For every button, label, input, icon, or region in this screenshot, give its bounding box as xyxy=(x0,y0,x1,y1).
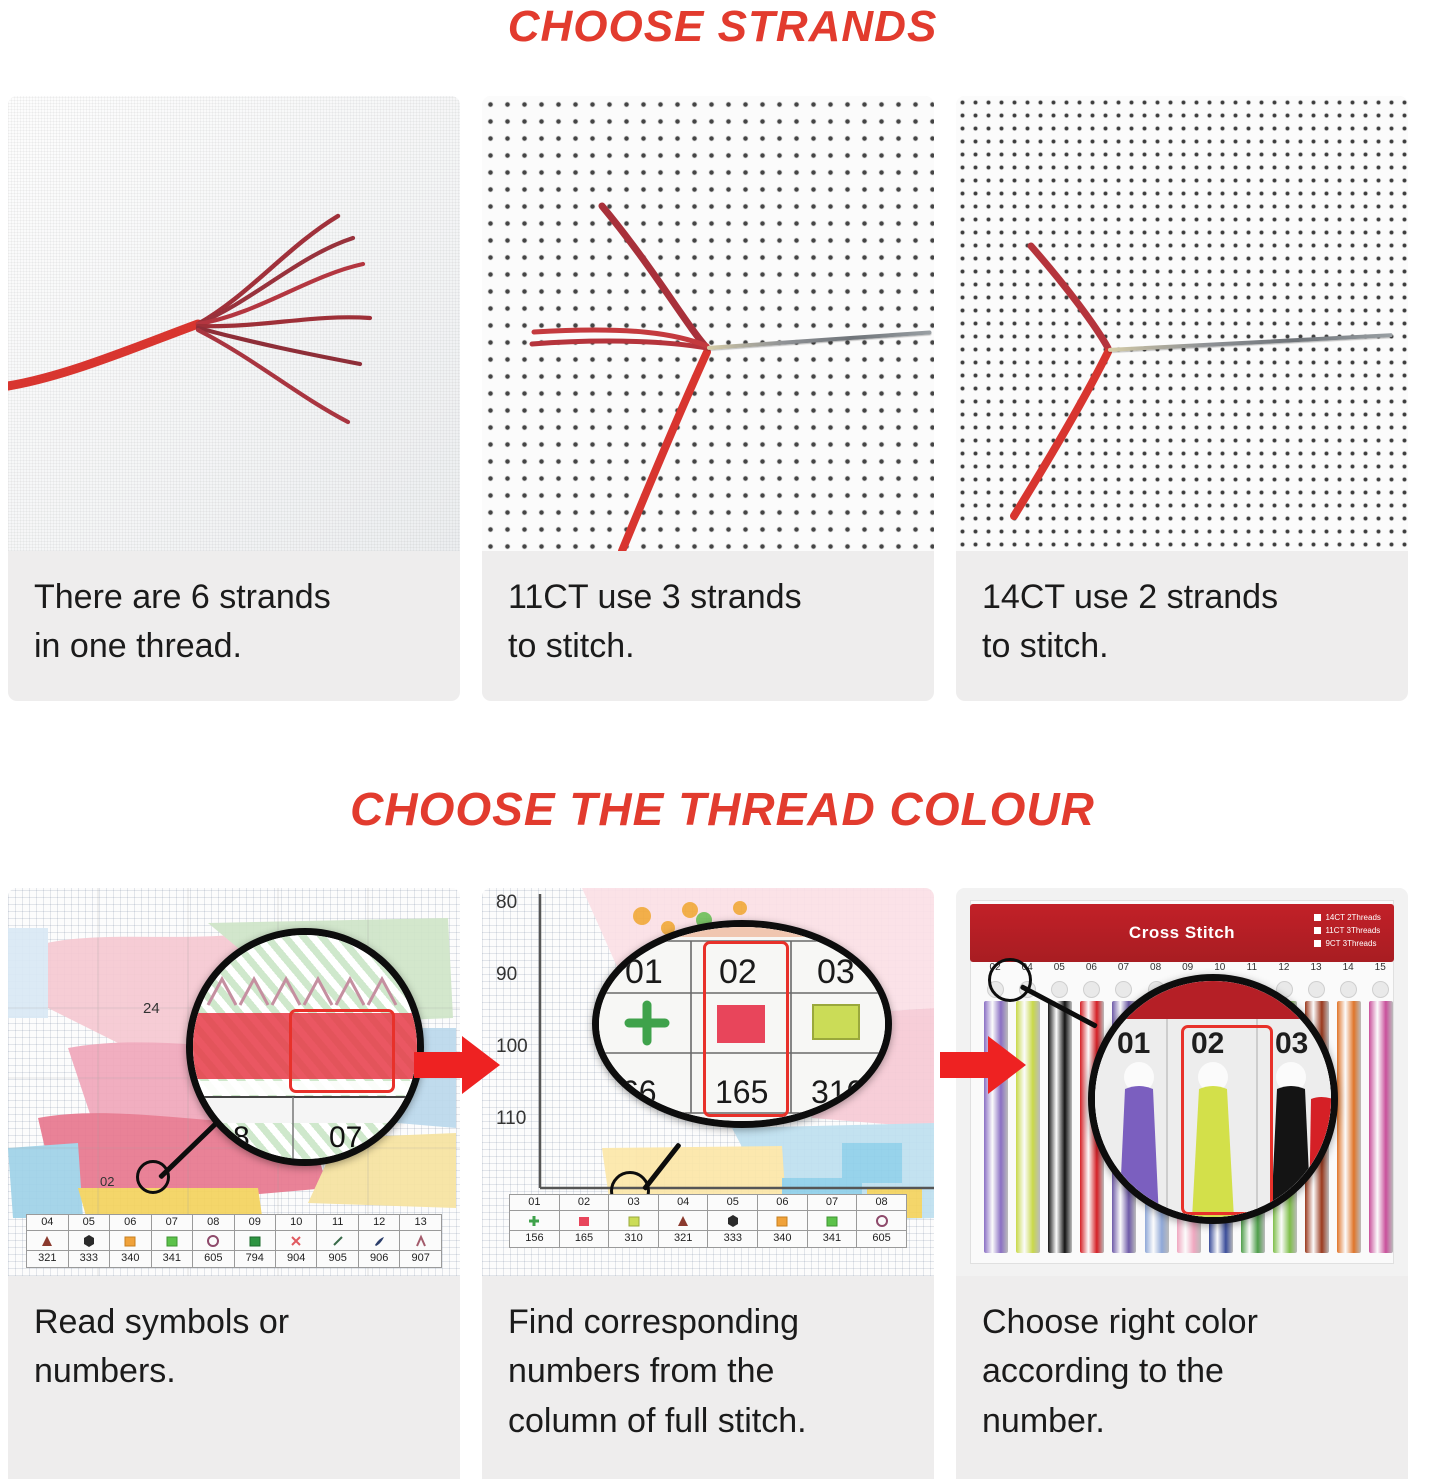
legend-column[interactable]: 01156 xyxy=(510,1195,560,1248)
magnifier-focus-dot xyxy=(988,958,1032,1002)
infographic-page: CHOOSE STRANDS xyxy=(0,0,1445,1479)
legend-symbol-orange-square xyxy=(110,1231,150,1251)
checkbox-icon[interactable] xyxy=(1314,927,1321,934)
legend-column[interactable]: 04321 xyxy=(27,1215,68,1268)
photo-needle-two-strands-14ct xyxy=(956,96,1408,551)
section-heading-choose-strands: CHOOSE STRANDS xyxy=(0,2,1445,52)
thread-skein[interactable] xyxy=(1337,1001,1361,1253)
legend-index: 04 xyxy=(659,1195,708,1212)
legend-dmc-code: 165 xyxy=(560,1231,609,1247)
arrow-pattern-to-chart xyxy=(414,1034,500,1096)
photo-needle-three-strands-11ct xyxy=(482,96,934,551)
legend-dmc-code: 906 xyxy=(359,1251,399,1267)
card-six-strands: There are 6 strands in one thread. xyxy=(8,96,460,701)
svg-text:01: 01 xyxy=(1117,1027,1150,1060)
legend-index: 06 xyxy=(758,1195,807,1212)
legend-dmc-code: 340 xyxy=(758,1231,807,1247)
thread-card-options: 14CT 2Threads11CT 3Threads9CT 3Threads xyxy=(1314,913,1380,952)
legend-symbol-yellow-green-square xyxy=(609,1211,658,1231)
section-heading-choose-thread-colour: CHOOSE THE THREAD COLOUR xyxy=(0,782,1445,836)
svg-text:8: 8 xyxy=(233,1121,250,1154)
legend-column[interactable]: 12906 xyxy=(359,1215,400,1268)
magnifier-lens-chart: 01 02 03 66 165 310 xyxy=(592,920,892,1128)
peg-number: 08 xyxy=(1144,962,1168,973)
svg-text:03: 03 xyxy=(1275,1027,1308,1060)
legend-column[interactable]: 13907 xyxy=(400,1215,441,1268)
legend-index: 07 xyxy=(152,1215,192,1232)
card-11ct: 11CT use 3 strands to stitch. xyxy=(482,96,934,701)
legend-symbol-open-circle xyxy=(857,1211,906,1231)
photo-red-thread-six-strands xyxy=(8,96,460,551)
highlight-box xyxy=(1181,1025,1273,1215)
legend-index: 06 xyxy=(110,1215,150,1232)
legend-column[interactable]: 05333 xyxy=(69,1215,110,1268)
photo-pattern-chart: 8090100110 xyxy=(482,888,934,1276)
caption-line-3: number. xyxy=(982,1397,1382,1446)
legend-index: 03 xyxy=(609,1195,658,1212)
legend-index: 11 xyxy=(317,1215,357,1232)
caption-line-1: Read symbols or xyxy=(34,1298,434,1347)
thread-card-option-label: 9CT 3Threads xyxy=(1325,939,1376,948)
legend-column[interactable]: 10904 xyxy=(276,1215,317,1268)
card-choose-color: Cross Stitch 14CT 2Threads11CT 3Threads9… xyxy=(956,888,1408,1479)
peg-number: 06 xyxy=(1079,962,1103,973)
peg-number: 15 xyxy=(1368,962,1392,973)
caption-read-symbols: Read symbols or numbers. xyxy=(8,1276,460,1479)
axis-tick-label: 110 xyxy=(496,1108,526,1130)
peg-number: 09 xyxy=(1176,962,1200,973)
legend-column[interactable]: 05333 xyxy=(708,1195,758,1248)
legend-dmc-code: 340 xyxy=(110,1251,150,1267)
six-strands-illustration xyxy=(8,96,460,551)
legend-dmc-code: 321 xyxy=(27,1251,67,1267)
legend-symbol-triangle-flag xyxy=(27,1231,67,1251)
caption-line-1: 11CT use 3 strands xyxy=(508,573,908,622)
magnifier-focus-dot xyxy=(136,1160,170,1194)
legend-symbol-hexagon-dot xyxy=(708,1211,757,1231)
legend-column[interactable]: 11905 xyxy=(317,1215,358,1268)
legend-symbol-diagonal-slash xyxy=(317,1231,357,1251)
legend-dmc-code: 156 xyxy=(510,1231,559,1247)
legend-dmc-code: 341 xyxy=(808,1231,857,1247)
two-strands-needle-illustration xyxy=(956,96,1408,551)
legend-index: 02 xyxy=(560,1195,609,1212)
thread-card-title: Cross Stitch xyxy=(1129,923,1235,943)
svg-text:03: 03 xyxy=(817,953,855,991)
highlight-box xyxy=(289,1009,395,1093)
thread-card-option[interactable]: 9CT 3Threads xyxy=(1314,939,1380,948)
thread-skein[interactable] xyxy=(1369,1001,1393,1253)
peg-number: 10 xyxy=(1208,962,1232,973)
peg-number: 11 xyxy=(1240,962,1264,973)
caption-line-1: 14CT use 2 strands xyxy=(982,573,1382,622)
magnifier-lens-pattern: 8 07 xyxy=(186,928,424,1166)
legend-index: 09 xyxy=(235,1215,275,1232)
legend-column[interactable]: 08605 xyxy=(193,1215,234,1268)
legend-symbol-hexagon-dot xyxy=(69,1231,109,1251)
pattern-grid-number: 02 xyxy=(100,1174,114,1189)
legend-symbol-green-plus xyxy=(510,1211,559,1231)
legend-index: 12 xyxy=(359,1215,399,1232)
legend-symbol-leaf-quill xyxy=(359,1231,399,1251)
legend-dmc-code: 605 xyxy=(193,1251,233,1267)
legend-dmc-code: 321 xyxy=(659,1231,708,1247)
card-read-symbols: 24 02 xyxy=(8,888,460,1479)
legend-symbol-green-square xyxy=(808,1211,857,1231)
caption-line-3: column of full stitch. xyxy=(508,1397,908,1446)
legend-index: 04 xyxy=(27,1215,67,1232)
legend-column[interactable]: 07341 xyxy=(152,1215,193,1268)
peg-number: 14 xyxy=(1336,962,1360,973)
legend-symbol-red-square xyxy=(560,1211,609,1231)
legend-symbol-open-circle xyxy=(193,1231,233,1251)
magnifier-lens-threads: 01 02 03 xyxy=(1088,974,1338,1224)
legend-symbol-red-cross xyxy=(276,1231,316,1251)
legend-dmc-code: 904 xyxy=(276,1251,316,1267)
caption-line-2: in one thread. xyxy=(34,622,434,671)
peg-number: 07 xyxy=(1111,962,1135,973)
legend-dmc-code: 333 xyxy=(69,1251,109,1267)
legend-dmc-code: 905 xyxy=(317,1251,357,1267)
legend-column[interactable]: 06340 xyxy=(110,1215,151,1268)
three-strands-needle-illustration xyxy=(482,96,934,551)
legend-column[interactable]: 08605 xyxy=(857,1195,907,1248)
legend-symbol-green-square xyxy=(152,1231,192,1251)
legend-column[interactable]: 02165 xyxy=(560,1195,610,1248)
pattern-grid-number: 24 xyxy=(143,1000,160,1017)
caption-14ct: 14CT use 2 strands to stitch. xyxy=(956,551,1408,701)
legend-table-find-numbers: 0115602165033100432105333063400734108605 xyxy=(509,1194,907,1249)
legend-index: 08 xyxy=(193,1215,233,1232)
legend-column[interactable]: 06340 xyxy=(758,1195,808,1248)
card-14ct: 14CT use 2 strands to stitch. xyxy=(956,96,1408,701)
legend-table-read-symbols: 0432105333063400734108605097941090411905… xyxy=(26,1214,442,1269)
caption-line-2: numbers. xyxy=(34,1347,434,1396)
legend-column[interactable]: 09794 xyxy=(235,1215,276,1268)
caption-line-1: There are 6 strands xyxy=(34,573,434,622)
legend-column[interactable]: 04321 xyxy=(659,1195,709,1248)
caption-line-2: according to the xyxy=(982,1347,1382,1396)
caption-line-1: Choose right color xyxy=(982,1298,1382,1347)
axis-tick-label: 100 xyxy=(496,1036,528,1058)
caption-find-numbers: Find corresponding numbers from the colu… xyxy=(482,1276,934,1479)
colour-card-row: 24 02 xyxy=(8,888,1408,1479)
caption-line-2: to stitch. xyxy=(982,622,1382,671)
card-find-numbers: 8090100110 xyxy=(482,888,934,1479)
legend-index: 08 xyxy=(857,1195,906,1212)
checkbox-icon[interactable] xyxy=(1314,940,1321,947)
svg-text:310: 310 xyxy=(811,1074,864,1110)
legend-dmc-code: 333 xyxy=(708,1231,757,1247)
axis-tick-label: 80 xyxy=(496,892,517,914)
legend-dmc-code: 605 xyxy=(857,1231,906,1247)
legend-index: 07 xyxy=(808,1195,857,1212)
photo-printed-pattern: 24 02 xyxy=(8,888,460,1276)
caption-11ct: 11CT use 3 strands to stitch. xyxy=(482,551,934,701)
svg-text:66: 66 xyxy=(621,1074,657,1110)
legend-index: 10 xyxy=(276,1215,316,1232)
legend-index: 05 xyxy=(708,1195,757,1212)
legend-index: 01 xyxy=(510,1195,559,1212)
caption-line-1: Find corresponding xyxy=(508,1298,908,1347)
caption-choose-color: Choose right color according to the numb… xyxy=(956,1276,1408,1479)
legend-index: 05 xyxy=(69,1215,109,1232)
caption-line-2: numbers from the xyxy=(508,1347,908,1396)
peg-number: 13 xyxy=(1304,962,1328,973)
thread-card-option-label: 14CT 2Threads xyxy=(1325,913,1380,922)
caption-six-strands: There are 6 strands in one thread. xyxy=(8,551,460,701)
legend-column[interactable]: 07341 xyxy=(808,1195,858,1248)
legend-dmc-code: 341 xyxy=(152,1251,192,1267)
axis-tick-label: 90 xyxy=(496,964,517,986)
thread-card-option[interactable]: 14CT 2Threads xyxy=(1314,913,1380,922)
legend-index: 13 xyxy=(400,1215,440,1232)
thread-skein[interactable] xyxy=(1048,1001,1072,1253)
legend-column[interactable]: 03310 xyxy=(609,1195,659,1248)
svg-text:01: 01 xyxy=(625,953,663,991)
legend-symbol-orange-square xyxy=(758,1211,807,1231)
peg-number: 05 xyxy=(1047,962,1071,973)
caption-line-2: to stitch. xyxy=(508,622,908,671)
legend-symbol-triangle-flag xyxy=(659,1211,708,1231)
thread-card-option[interactable]: 11CT 3Threads xyxy=(1314,926,1380,935)
strands-card-row: There are 6 strands in one thread. xyxy=(8,96,1408,701)
checkbox-icon[interactable] xyxy=(1314,914,1321,921)
legend-dmc-code: 794 xyxy=(235,1251,275,1267)
legend-symbol-caret-up xyxy=(400,1231,440,1251)
legend-symbol-dark-green-square xyxy=(235,1231,275,1251)
thread-card-option-label: 11CT 3Threads xyxy=(1325,926,1380,935)
highlight-box xyxy=(703,941,789,1117)
legend-dmc-code: 907 xyxy=(400,1251,440,1267)
peg-number: 12 xyxy=(1272,962,1296,973)
arrow-chart-to-threads xyxy=(940,1034,1026,1096)
magnified-column-number: 07 xyxy=(329,1121,362,1154)
legend-dmc-code: 310 xyxy=(609,1231,658,1247)
